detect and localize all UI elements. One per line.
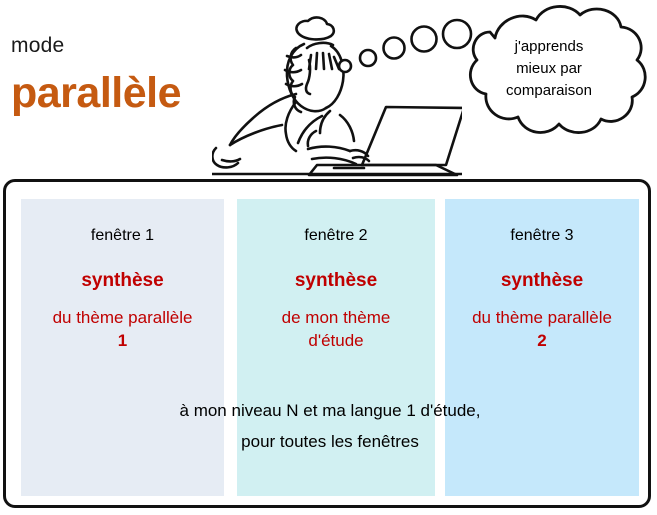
- header-banner: mode parallèle: [0, 0, 657, 180]
- mode-title: parallèle: [11, 68, 181, 118]
- window-panel-1-content: fenêtre 1 synthèse du thème parallèle 1: [21, 225, 224, 352]
- window-1-theme: du thème parallèle: [21, 306, 224, 329]
- thought-line-1: j'apprends: [515, 38, 584, 55]
- thought-bubble-text: j'apprends mieux par comparaison: [473, 36, 625, 102]
- window-panel-3-content: fenêtre 3 synthèse du thème parallèle 2: [445, 225, 639, 352]
- mode-label: mode: [11, 33, 64, 59]
- window-3-theme: du thème parallèle: [445, 306, 639, 329]
- window-1-label: fenêtre 1: [21, 225, 224, 247]
- window-2-theme: de mon thème: [237, 306, 435, 329]
- window-3-label: fenêtre 3: [445, 225, 639, 247]
- thought-line-2: mieux par: [516, 60, 582, 77]
- window-2-theme-number: d'étude: [237, 329, 435, 352]
- window-1-theme-number: 1: [21, 329, 224, 352]
- window-3-theme-number: 2: [445, 329, 639, 352]
- window-2-label: fenêtre 2: [237, 225, 435, 247]
- window-3-synthese: synthèse: [445, 269, 639, 293]
- thought-line-3: comparaison: [506, 82, 592, 99]
- window-panel-2-content: fenêtre 2 synthèse de mon thème d'étude: [237, 225, 435, 352]
- caption-line-1: à mon niveau N et ma langue 1 d'étude,: [6, 395, 654, 426]
- parallel-mode-diagram-box: fenêtre 1 synthèse du thème parallèle 1 …: [3, 179, 651, 508]
- window-1-synthese: synthèse: [21, 269, 224, 293]
- caption-line-2: pour toutes les fenêtres: [6, 426, 654, 457]
- diagram-caption: à mon niveau N et ma langue 1 d'étude, p…: [6, 395, 654, 457]
- window-2-synthese: synthèse: [237, 269, 435, 293]
